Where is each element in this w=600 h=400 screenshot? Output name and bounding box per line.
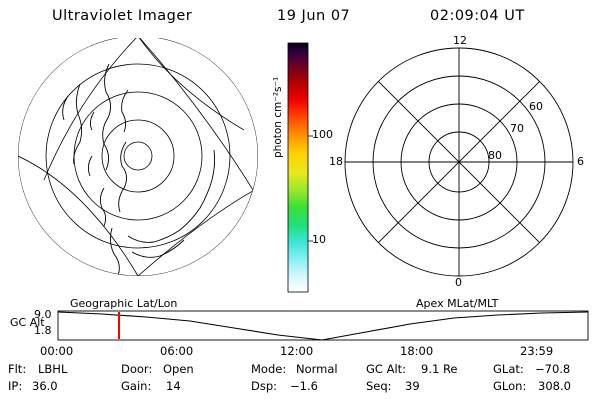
x-tick-4: 23:59 [520,344,553,358]
mlt-label-6: 6 [577,155,584,168]
header-bar: Ultraviolet Imager 19 Jun 07 02:09:04 UT [0,8,600,32]
mlt-label-18: 18 [329,155,343,168]
status-gcalt-key: GC Alt: [366,362,406,376]
status-glat-value: −70.8 [535,362,570,376]
status-door-key: Door: [121,362,152,376]
status-gain-key: Gain: [121,379,151,393]
lat-lon-grid [18,38,258,276]
status-mode-value: Normal [296,362,338,376]
status-footer: Flt: LBHL Door: Open Mode: Normal GC Alt… [8,362,592,396]
mlt-label-0: 0 [455,276,462,289]
instrument-title: Ultraviolet Imager [52,8,192,24]
observation-date: 19 Jun 07 [277,8,350,24]
status-glon-value: 308.0 [538,379,571,393]
colorbar: photon cm⁻²s⁻¹ [272,40,328,295]
status-gain-value: 14 [166,379,181,393]
status-flt-key: Flt: [8,362,26,376]
status-flt-value: LBHL [38,362,67,376]
status-seq-key: Seq: [366,379,392,393]
timeseries-frame [58,311,588,340]
status-door-value: Open [163,362,194,376]
mlat-label-70: 70 [510,122,524,135]
apex-mlat-mlt-dial: 12 18 6 0 60 70 80 [330,38,588,296]
observation-time: 02:09:04 UT [430,8,525,24]
x-tick-1: 06:00 [160,344,193,358]
gc-alt-curve [58,312,588,340]
status-glon-key: GLon: [493,379,526,393]
colorbar-axis-title: photon cm⁻²s⁻¹ [272,77,284,158]
status-ip-value: 36.0 [32,379,58,393]
geographic-polar-map [8,38,268,296]
x-tick-0: 00:00 [40,344,73,358]
status-ip-key: IP: [8,379,22,393]
status-gcalt-value: 9.1 Re [421,362,458,376]
status-seq-value: 39 [405,379,420,393]
status-glat-key: GLat: [493,362,524,376]
mlat-label-80: 80 [488,149,502,162]
status-dsp-key: Dsp: [251,379,277,393]
colorbar-tick-10: 10 [312,233,326,246]
status-mode-key: Mode: [251,362,286,376]
gc-alt-timeseries: Geographic Lat/Lon Apex MLat/MLT 9.0 1.8… [8,298,592,342]
x-tick-2: 12:00 [280,344,313,358]
mlt-label-12: 12 [453,34,467,47]
status-dsp-value: −1.6 [290,379,318,393]
x-tick-3: 18:00 [400,344,433,358]
mlat-label-60: 60 [529,100,543,113]
timeseries-x-axis: 00:00 06:00 12:00 18:00 23:59 [8,344,592,358]
